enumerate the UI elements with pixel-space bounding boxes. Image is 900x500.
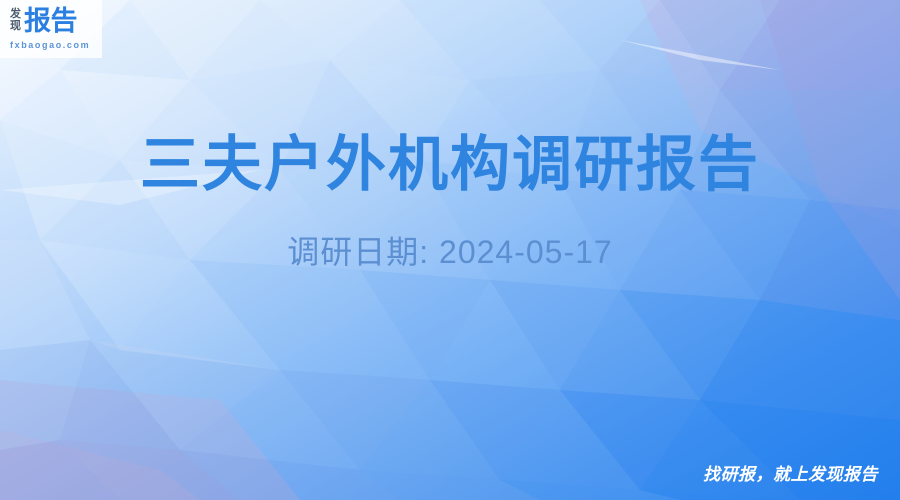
logo-char-fa: 发	[10, 8, 21, 20]
logo-stacked-characters: 发 现	[10, 7, 21, 32]
logo-char-xian: 现	[10, 20, 21, 32]
survey-date-subtitle: 调研日期: 2024-05-17	[0, 230, 900, 274]
logo-domain-text: fxbaogao.com	[10, 40, 90, 50]
logo-wordmark: 报告	[24, 7, 77, 35]
report-cover: 发 现 报告 fxbaogao.com 三夫户外机构调研报告 调研日期: 202…	[0, 0, 900, 500]
footer-tagline: 找研报，就上发现报告	[703, 464, 878, 486]
page-title: 三夫户外机构调研报告	[0, 130, 900, 200]
brand-logo[interactable]: 发 现 报告	[10, 7, 77, 35]
